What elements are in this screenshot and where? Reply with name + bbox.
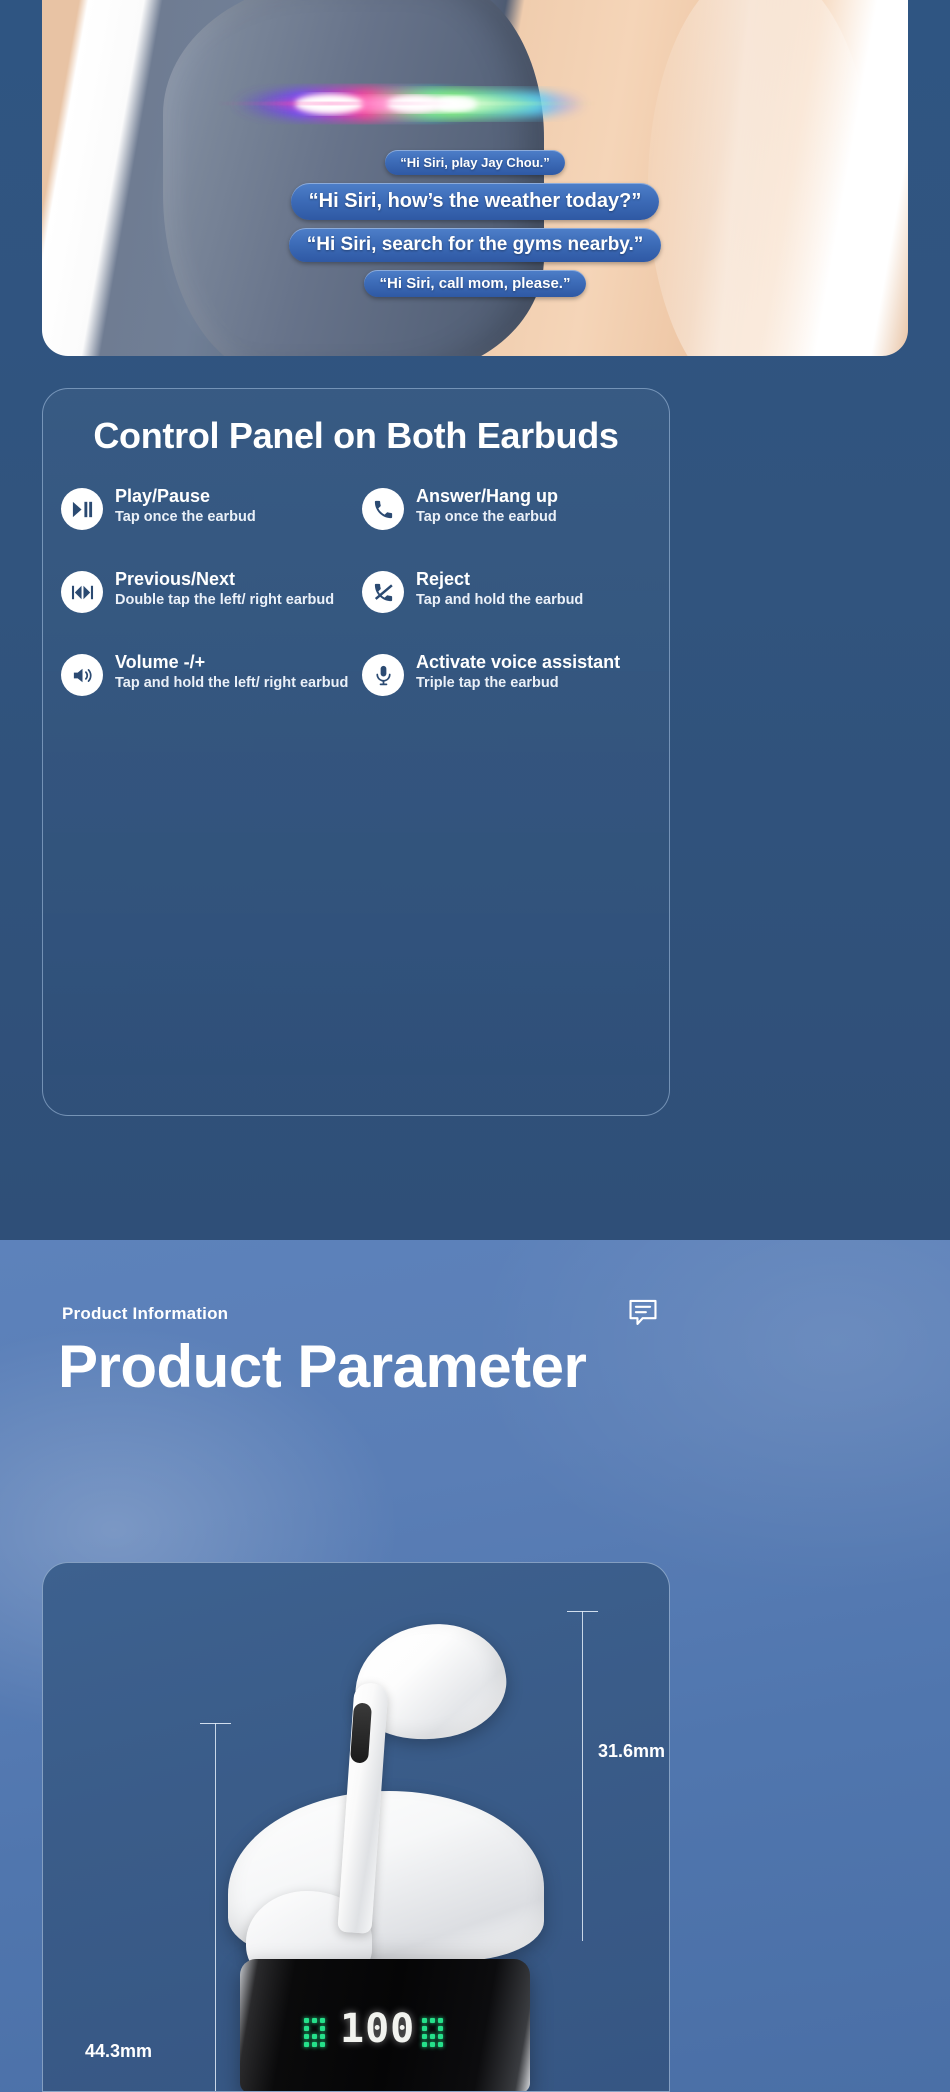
bubble-row: “Hi Siri, how’s the weather today?” [42, 183, 908, 220]
siri-control-section: “Hi Siri, play Jay Chou.” “Hi Siri, how’… [0, 0, 950, 1240]
control-panel-title: Control Panel on Both Earbuds [43, 415, 669, 457]
feature-text: Play/Pause Tap once the earbud [115, 485, 256, 526]
bubble-row: “Hi Siri, play Jay Chou.” [42, 150, 908, 175]
feature-text: Answer/Hang up Tap once the earbud [416, 485, 558, 526]
feature-grid: Play/Pause Tap once the earbud Answer/Ha… [61, 485, 653, 696]
feature-text: Activate voice assistant Triple tap the … [416, 651, 620, 692]
feature-title: Activate voice assistant [416, 652, 620, 673]
bubble-row: “Hi Siri, call mom, please.” [42, 270, 908, 297]
hero-lifestyle-photo: “Hi Siri, play Jay Chou.” “Hi Siri, how’… [42, 0, 908, 356]
play-pause-icon [61, 488, 103, 530]
feature-title: Previous/Next [115, 569, 334, 590]
previous-next-icon [61, 571, 103, 613]
feature-subtitle: Tap and hold the earbud [416, 592, 583, 609]
feature-text: Reject Tap and hold the earbud [416, 568, 583, 609]
feature-title: Volume -/+ [115, 652, 348, 673]
siri-bubble-3: “Hi Siri, search for the gyms nearby.” [289, 228, 661, 262]
phone-answer-icon [362, 488, 404, 530]
feature-item: Play/Pause Tap once the earbud [61, 485, 352, 530]
feature-title: Reject [416, 569, 583, 590]
height-dimension-label: 31.6mm [598, 1741, 665, 1762]
feature-item: Volume -/+ Tap and hold the left/ right … [61, 651, 352, 696]
feature-subtitle: Tap once the earbud [115, 509, 256, 526]
earbuds-product-photo: 100 [228, 1591, 558, 2092]
section-eyebrow: Product Information [62, 1304, 228, 1324]
feature-subtitle: Double tap the left/ right earbud [115, 592, 334, 609]
feature-item: Answer/Hang up Tap once the earbud [362, 485, 653, 530]
product-parameter-section: Product Information Product Parameter [0, 1240, 950, 2092]
control-panel-card: Control Panel on Both Earbuds Play/Pause… [42, 388, 670, 1116]
feature-text: Previous/Next Double tap the left/ right… [115, 568, 334, 609]
siri-bubble-1: “Hi Siri, play Jay Chou.” [385, 150, 565, 175]
width-dimension-label: 44.3mm [85, 2041, 152, 2062]
width-dimension-line [215, 1723, 216, 2092]
phone-reject-icon [362, 571, 404, 613]
feature-subtitle: Triple tap the earbud [416, 675, 620, 692]
led-matrix-right [422, 2018, 451, 2047]
siri-bubble-4: “Hi Siri, call mom, please.” [364, 270, 587, 297]
product-dimensions-card: 100 31.6mm 44.3mm [42, 1562, 670, 2092]
product-detail-page: “Hi Siri, play Jay Chou.” “Hi Siri, how’… [0, 0, 950, 2092]
feature-item: Reject Tap and hold the earbud [362, 568, 653, 613]
siri-command-bubbles: “Hi Siri, play Jay Chou.” “Hi Siri, how’… [42, 150, 908, 305]
bubble-row: “Hi Siri, search for the gyms nearby.” [42, 228, 908, 262]
battery-led-display: 100 [304, 2011, 451, 2047]
height-dimension-line [582, 1611, 583, 1941]
charging-case-body: 100 [240, 1959, 530, 2092]
feature-title: Answer/Hang up [416, 486, 558, 507]
feature-item: Activate voice assistant Triple tap the … [362, 651, 653, 696]
feature-subtitle: Tap and hold the left/ right earbud [115, 675, 348, 692]
siri-bubble-2: “Hi Siri, how’s the weather today?” [291, 183, 660, 220]
battery-percentage: 100 [340, 2011, 415, 2047]
page-title: Product Parameter [58, 1332, 586, 1401]
feature-subtitle: Tap once the earbud [416, 509, 558, 526]
volume-icon [61, 654, 103, 696]
led-matrix-left [304, 2018, 333, 2047]
speech-bubble-icon [626, 1296, 660, 1330]
feature-title: Play/Pause [115, 486, 256, 507]
siri-waveform-icon [217, 74, 597, 134]
microphone-icon [362, 654, 404, 696]
feature-item: Previous/Next Double tap the left/ right… [61, 568, 352, 613]
feature-text: Volume -/+ Tap and hold the left/ right … [115, 651, 348, 692]
